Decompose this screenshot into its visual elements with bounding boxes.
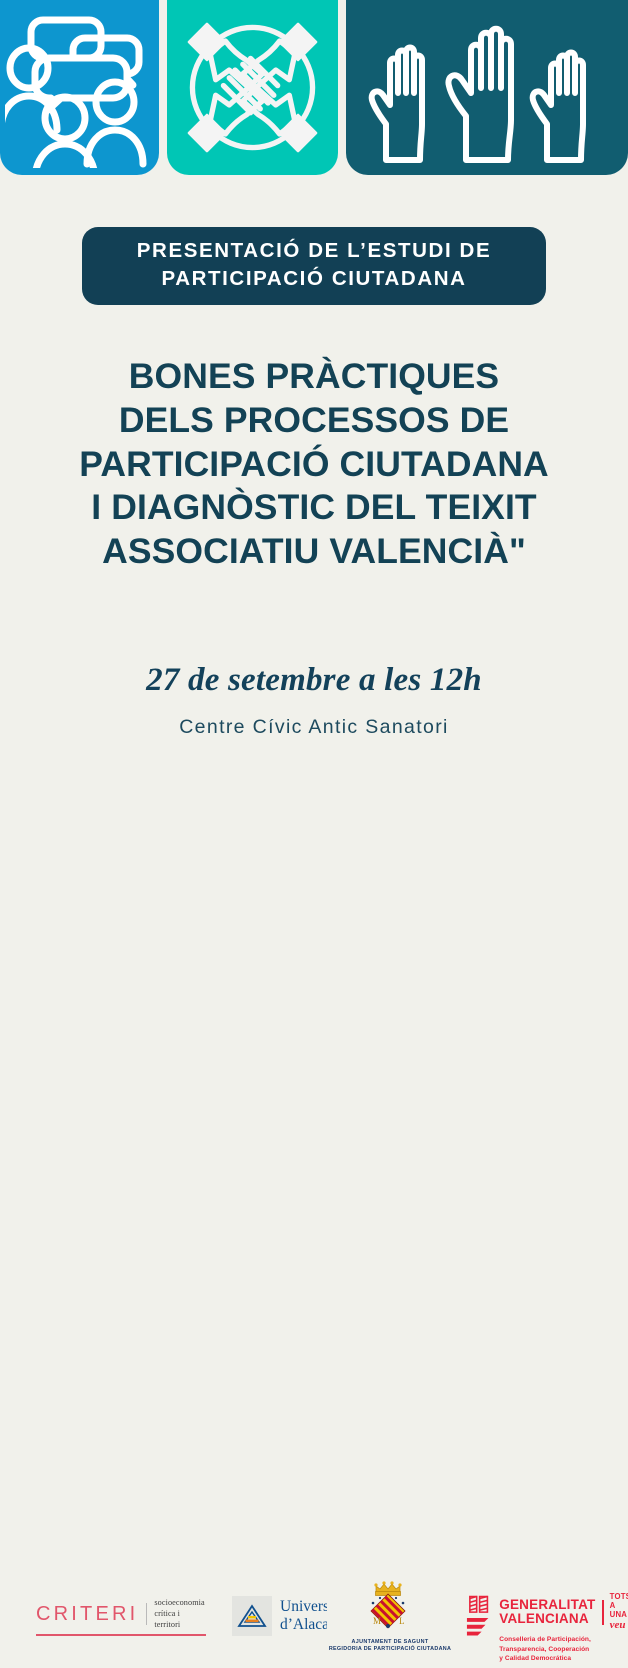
gva-name-line-1: GENERALITAT <box>499 1597 595 1612</box>
header-icon-band <box>0 0 628 175</box>
criteri-wordmark: CRITERI <box>36 1604 138 1624</box>
panel-participation-dialogue <box>0 0 159 175</box>
generalitat-valenciana-mark-icon <box>464 1592 493 1642</box>
gva-claim-line-1: TOTS <box>610 1592 628 1601</box>
logo-ajuntament-sagunt: M L AJUNTAMENT DE SAGUNT REGIDORIA DE PA… <box>327 1576 453 1668</box>
logo-criteri: CRITERI socioeconomia crítica i territor… <box>36 1598 206 1636</box>
event-date: 27 de setembre a les 12h <box>0 662 628 699</box>
gva-claim: TOTS A UNA veu <box>610 1592 628 1632</box>
gva-claim-line-2: A UNA <box>610 1601 628 1619</box>
criteri-tagline-line-1: socioeconomia <box>154 1598 204 1607</box>
svg-text:M: M <box>373 1616 381 1626</box>
criteri-underline <box>36 1634 206 1635</box>
title-line-3: PARTICIPACIÓ CIUTADANA <box>0 443 628 487</box>
gva-divider <box>602 1600 603 1625</box>
people-speech-bubbles-icon <box>5 8 155 168</box>
sagunt-name-line-1: AJUNTAMENT DE SAGUNT <box>352 1639 429 1645</box>
gva-name-line-2: VALENCIANA <box>499 1611 589 1626</box>
sponsor-logo-strip: CRITERI socioeconomia crítica i territor… <box>0 786 628 882</box>
gva-claim-line-3: veu <box>610 1619 626 1631</box>
title-line-1: BONES PRÀCTIQUES <box>0 355 628 399</box>
universitat-alacant-pyramid-icon <box>232 1596 272 1636</box>
sagunt-name-line-2: REGIDORIA DE PARTICIPACIÓ CIUTADANA <box>329 1646 451 1652</box>
svg-text:L: L <box>399 1616 405 1626</box>
kicker-badge: PRESENTACIÓ DE L’ESTUDI DE PARTICIPACIÓ … <box>82 227 546 305</box>
kicker-line-2: PARTICIPACIÓ CIUTADANA <box>161 265 466 293</box>
gva-department: Conselleria de Participación, Transparen… <box>499 1635 628 1663</box>
generalitat-wordmark: GENERALITAT VALENCIANA <box>499 1598 595 1627</box>
gva-dept-line-3: y Calidad Democrática <box>499 1655 571 1662</box>
title-line-5: ASSOCIATIU VALENCIÀ" <box>0 530 628 574</box>
event-venue: Centre Cívic Antic Sanatori <box>0 716 628 739</box>
criteri-divider <box>146 1603 147 1625</box>
panel-collaboration <box>167 0 338 175</box>
criteri-tagline-line-2: crítica i territori <box>154 1609 180 1629</box>
kicker-line-1: PRESENTACIÓ DE L’ESTUDI DE <box>137 237 491 265</box>
criteri-tagline: socioeconomia crítica i territori <box>154 1598 206 1630</box>
joined-hands-unity-icon <box>175 10 330 165</box>
panel-raised-hands <box>346 0 628 175</box>
gva-dept-line-2: Transparencia, Cooperación <box>499 1646 589 1653</box>
title-line-2: DELS PROCESSOS DE <box>0 399 628 443</box>
title-line-4: I DIAGNÒSTIC DEL TEIXIT <box>0 486 628 530</box>
three-raised-hands-icon <box>362 10 612 165</box>
gva-dept-line-1: Conselleria de Participación, <box>499 1636 591 1643</box>
sagunt-coat-of-arms-icon: M L <box>360 1579 420 1637</box>
logo-generalitat-valenciana: GENERALITAT VALENCIANA TOTS A UNA veu Co… <box>464 1592 628 1663</box>
poster-root: { "colors": { "background": "#f1f1eb", "… <box>0 0 628 888</box>
page-title: BONES PRÀCTIQUES DELS PROCESSOS DE PARTI… <box>0 355 628 574</box>
